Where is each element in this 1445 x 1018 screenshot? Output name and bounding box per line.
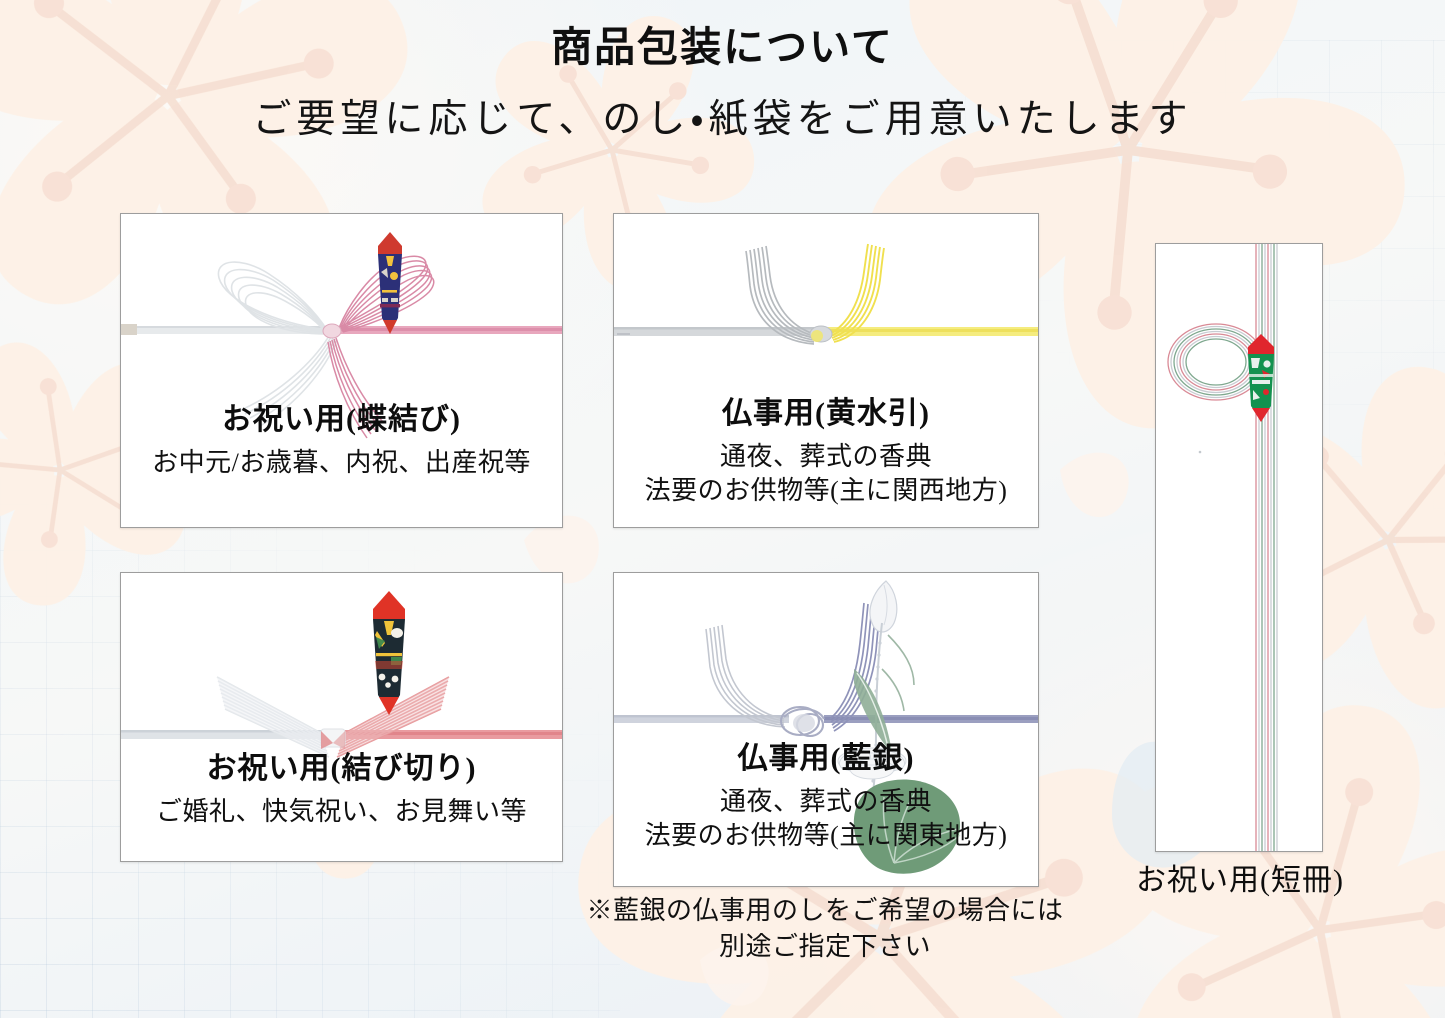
card-description: 通夜、葬式の香典 法要のお供物等(主に関東地方) (614, 785, 1038, 853)
page-subtitle: ご要望に応じて、のし・紙袋をご用意いたします (0, 95, 1445, 146)
noshi-card-iwai-chomusubi[interactable]: お祝い用(蝶結び) お中元/お歳暮、内祝、出産祝等 (120, 213, 563, 528)
noshi-card-iwai-musubikiri[interactable]: お祝い用(結び切り) ご婚礼、快気祝い、お見舞い等 (120, 572, 563, 862)
aigin-note: ※藍銀の仏事用のしをご希望の場合には 別途ご指定下さい (570, 893, 1080, 965)
card-title: お祝い用(結び切り) (121, 751, 562, 787)
card-labels: お祝い用(結び切り) ご婚礼、快気祝い、お見舞い等 (121, 751, 562, 829)
card-title: 仏事用(黄水引) (614, 396, 1038, 432)
card-title: お祝い用(蝶結び) (121, 402, 562, 438)
card-labels: 仏事用(藍銀) 通夜、葬式の香典 法要のお供物等(主に関東地方) (614, 741, 1038, 853)
card-description: ご婚礼、快気祝い、お見舞い等 (121, 795, 562, 829)
card-title: 仏事用(藍銀) (614, 741, 1038, 777)
noshi-illustration-chomusubi (121, 214, 562, 527)
noshi-card-butsuji-aigin[interactable]: 仏事用(藍銀) 通夜、葬式の香典 法要のお供物等(主に関東地方) (613, 572, 1039, 887)
page-title: 商品包装について (0, 22, 1445, 73)
card-labels: 仏事用(黄水引) 通夜、葬式の香典 法要のお供物等(主に関西地方) (614, 396, 1038, 508)
noshi-card-butsuji-kimizuhiki[interactable]: 仏事用(黄水引) 通夜、葬式の香典 法要のお供物等(主に関西地方) (613, 213, 1039, 528)
note-line-1: ※藍銀の仏事用のしをご希望の場合には (570, 893, 1080, 929)
page-header: 商品包装について ご要望に応じて、のし・紙袋をご用意いたします (0, 22, 1445, 146)
page-root: 商品包装について ご要望に応じて、のし・紙袋をご用意いたします (0, 0, 1445, 1018)
noshi-card-tanzaku[interactable] (1155, 243, 1323, 852)
noshi-illustration-tanzaku (1156, 244, 1322, 851)
note-line-2: 別途ご指定下さい (570, 929, 1080, 965)
card-labels: お祝い用(蝶結び) お中元/お歳暮、内祝、出産祝等 (121, 402, 562, 480)
tanzaku-label: お祝い用(短冊) (1085, 855, 1395, 899)
card-description: お中元/お歳暮、内祝、出産祝等 (121, 446, 562, 480)
card-description: 通夜、葬式の香典 法要のお供物等(主に関西地方) (614, 440, 1038, 508)
